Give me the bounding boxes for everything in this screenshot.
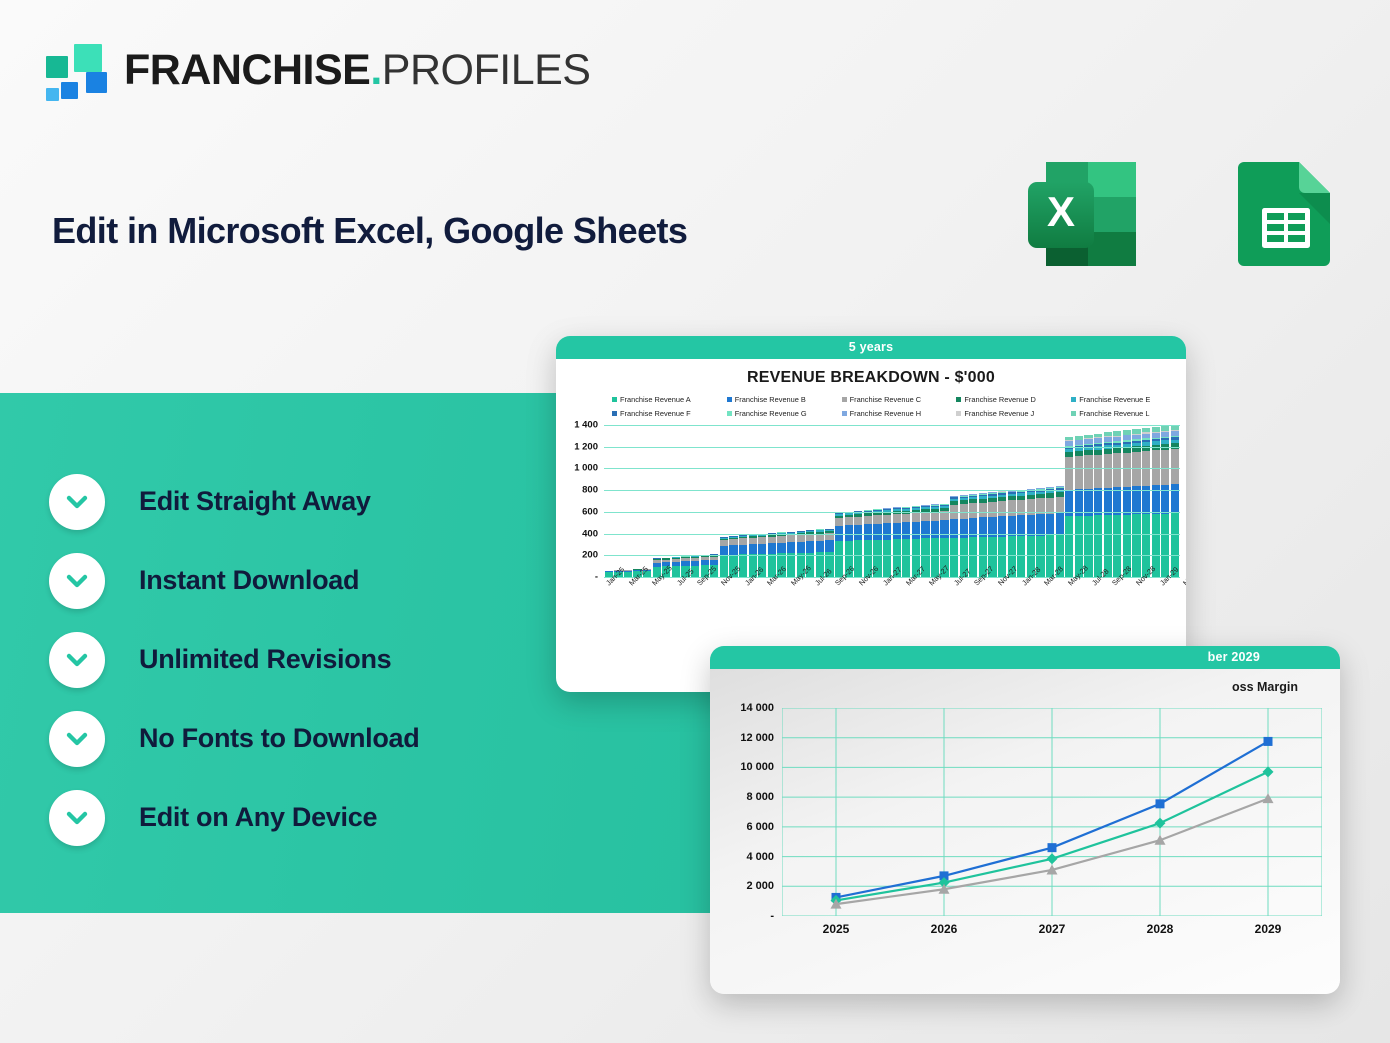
bar-segment [1046, 514, 1054, 535]
logo-dot: . [370, 46, 381, 94]
bar-segment [1094, 455, 1102, 488]
legend-swatch [612, 411, 617, 416]
bar-segment [921, 521, 929, 538]
y-axis-tick: 200 [582, 550, 598, 561]
bar-segment [777, 536, 785, 543]
bar-segment [864, 524, 872, 540]
bar-segment [854, 517, 862, 525]
feature-item[interactable]: No Fonts to Download [49, 699, 569, 778]
y-axis-tick: - [595, 572, 598, 583]
chevron-down-icon [49, 711, 105, 767]
y-axis-tick: 1 000 [574, 463, 598, 474]
y-axis-tick: 1 400 [574, 420, 598, 431]
y-axis-tick: 1 200 [574, 441, 598, 452]
bar-column [1046, 487, 1054, 577]
feature-label: Edit on Any Device [139, 802, 377, 833]
bar-segment [1171, 449, 1179, 484]
chart-subtitle-gross-margin: oss Margin [710, 680, 1340, 694]
y-axis-tick: 600 [582, 506, 598, 517]
bar-chart-x-axis: Jan-25Mar-25May-25Jul-25Sep-25Nov-25Jan-… [604, 579, 1180, 625]
x-axis-tick: 2029 [1214, 922, 1322, 936]
logo-wordmark: FRANCHISE.PROFILES [124, 49, 590, 92]
x-axis-tick: 2025 [782, 922, 890, 936]
bar-segment [979, 503, 987, 518]
bar-segment [998, 501, 1006, 516]
bar-column [931, 504, 939, 577]
gridline [604, 425, 1180, 426]
legend-label: Franchise Revenue E [1079, 395, 1150, 404]
gridline [604, 490, 1180, 491]
legend-swatch [842, 411, 847, 416]
bar-segment [787, 535, 795, 542]
gridline [604, 447, 1180, 448]
legend-label: Franchise Revenue A [620, 395, 691, 404]
revenue-breakdown-card: 5 years REVENUE BREAKDOWN - $'000 Franch… [556, 336, 1186, 692]
y-axis-tick: 800 [582, 485, 598, 496]
y-axis-tick: 6 000 [746, 821, 774, 833]
card-ribbon-5-years: 5 years [556, 336, 1186, 359]
bar-segment [921, 512, 929, 521]
bar-column [835, 512, 843, 577]
bar-segment [883, 523, 891, 540]
legend-item: Franchise Revenue J [956, 409, 1071, 418]
bar-segment [720, 546, 728, 555]
bar-segment [1113, 453, 1121, 487]
y-axis-tick: 2 000 [746, 880, 774, 892]
bar-segment [883, 515, 891, 523]
legend-item: Franchise Revenue L [1071, 409, 1186, 418]
bar-segment [931, 521, 939, 539]
bar-column [902, 507, 910, 577]
legend-swatch [1071, 411, 1076, 416]
feature-item[interactable]: Instant Download [49, 541, 569, 620]
feature-item[interactable]: Edit Straight Away [49, 462, 569, 541]
bar-segment [1017, 500, 1025, 516]
y-axis-tick: 12 000 [740, 732, 774, 744]
bar-segment [768, 543, 776, 553]
feature-label: Edit Straight Away [139, 486, 371, 517]
bar-segment [835, 518, 843, 526]
bar-segment [950, 519, 958, 538]
bar-segment [1104, 454, 1112, 488]
bar-segment [1094, 515, 1102, 577]
legend-swatch [842, 397, 847, 402]
bar-segment [1171, 484, 1179, 513]
bar-segment [816, 534, 824, 541]
bar-segment [960, 519, 968, 538]
legend-item: Franchise Revenue F [612, 409, 727, 418]
bar-segment [777, 543, 785, 554]
bar-segment [845, 517, 853, 525]
bar-segment [912, 522, 920, 539]
y-axis-tick: 8 000 [746, 791, 774, 803]
card-ribbon-period: ber 2029 [710, 646, 1340, 669]
bar-segment [739, 545, 747, 555]
bar-segment [893, 523, 901, 540]
legend-item: Franchise Revenue C [842, 395, 957, 404]
bar-segment [1161, 514, 1169, 578]
bar-column [883, 508, 891, 577]
bar-segment [873, 524, 881, 540]
legend-label: Franchise Revenue B [735, 395, 806, 404]
bar-segment [902, 514, 910, 522]
feature-label: Instant Download [139, 565, 359, 596]
logo-word-primary: FRANCHISE [124, 46, 370, 94]
bar-segment [729, 545, 737, 555]
svg-text:X: X [1047, 188, 1075, 235]
bar-segment [969, 503, 977, 518]
feature-item[interactable]: Unlimited Revisions [49, 620, 569, 699]
logo-word-secondary: PROFILES [382, 46, 591, 94]
legend-label: Franchise Revenue F [620, 409, 691, 418]
legend-swatch [956, 397, 961, 402]
bar-segment [1065, 457, 1073, 490]
legend-swatch [1071, 397, 1076, 402]
bar-segment [1075, 456, 1083, 489]
brand-logo: FRANCHISE.PROFILES [46, 42, 590, 98]
legend-swatch [956, 411, 961, 416]
y-axis-tick: 4 000 [746, 851, 774, 863]
legend-item: Franchise Revenue D [956, 395, 1071, 404]
legend-item: Franchise Revenue G [727, 409, 842, 418]
chevron-down-icon [49, 790, 105, 846]
gridline [604, 468, 1180, 469]
feature-label: No Fonts to Download [139, 723, 419, 754]
bar-segment [1008, 500, 1016, 515]
bar-segment [768, 537, 776, 544]
bar-segment [787, 542, 795, 553]
bar-segment [806, 534, 814, 541]
google-sheets-icon [1224, 152, 1348, 276]
bar-column [1036, 488, 1044, 577]
gridline [604, 555, 1180, 556]
chevron-down-icon [49, 474, 105, 530]
bar-segment [1132, 514, 1140, 577]
bar-segment [1123, 453, 1131, 487]
legend-swatch [612, 397, 617, 402]
x-axis-tick: 2027 [998, 922, 1106, 936]
microsoft-excel-icon: X [1022, 152, 1146, 276]
feature-list: Edit Straight Away Instant Download Unli… [49, 462, 569, 857]
bar-segment [902, 522, 910, 539]
legend-swatch [727, 411, 732, 416]
bar-chart-plot: 1 4001 2001 000800600400200- Jan-25Mar-2… [556, 425, 1186, 601]
line-chart-y-axis: 14 00012 00010 0008 0006 0004 0002 000- [710, 708, 780, 916]
bar-column [854, 511, 862, 577]
bar-segment [1065, 516, 1073, 577]
bar-column [1171, 425, 1179, 577]
bar-column [720, 537, 728, 577]
bar-segment [806, 541, 814, 552]
bar-segment [940, 520, 948, 538]
legend-label: Franchise Revenue L [1079, 409, 1149, 418]
legend-item: Franchise Revenue E [1071, 395, 1186, 404]
legend-item: Franchise Revenue A [612, 395, 727, 404]
bar-segment [797, 535, 805, 542]
bar-segment [1036, 514, 1044, 535]
bar-segment [1084, 455, 1092, 488]
chart-title-revenue-breakdown: REVENUE BREAKDOWN - $'000 [556, 369, 1186, 387]
bar-chart-plot-area [604, 425, 1180, 577]
bar-segment [1161, 485, 1169, 514]
bar-column [1056, 486, 1064, 577]
app-icons-group: X [1022, 152, 1348, 276]
chevron-down-icon [49, 553, 105, 609]
legend-swatch [727, 397, 732, 402]
y-axis-tick: 14 000 [740, 702, 774, 714]
legend-item: Franchise Revenue H [842, 409, 957, 418]
bar-segment [1113, 515, 1121, 577]
y-axis-tick: 10 000 [740, 761, 774, 773]
bar-column [950, 496, 958, 577]
bar-segment [873, 515, 881, 523]
chevron-down-icon [49, 632, 105, 688]
bar-segment [1113, 487, 1121, 515]
y-axis-tick: 400 [582, 528, 598, 539]
bar-segment [1056, 513, 1064, 534]
bar-segment [854, 525, 862, 541]
legend-label: Franchise Revenue G [735, 409, 807, 418]
feature-item[interactable]: Edit on Any Device [49, 778, 569, 857]
chart-legend: Franchise Revenue AFranchise Revenue BFr… [556, 387, 1186, 423]
bar-segment [988, 502, 996, 517]
y-axis-tick: - [770, 910, 774, 922]
bar-segment [797, 542, 805, 553]
logo-mark-icon [46, 42, 108, 98]
legend-item: Franchise Revenue B [727, 395, 842, 404]
gridline [604, 534, 1180, 535]
line-chart-plot: 14 00012 00010 0008 0006 0004 0002 000- … [710, 700, 1340, 958]
bar-segment [749, 544, 757, 554]
bar-segment [931, 512, 939, 521]
page-headline: Edit in Microsoft Excel, Google Sheets [52, 210, 687, 252]
bar-segment [1161, 450, 1169, 485]
bar-column [960, 495, 968, 577]
bar-segment [758, 544, 766, 554]
bar-column [979, 493, 987, 577]
x-axis-tick: 2028 [1106, 922, 1214, 936]
bar-segment [912, 513, 920, 522]
bar-segment [864, 516, 872, 524]
projection-card: ber 2029 oss Margin 14 00012 00010 0008 … [710, 646, 1340, 994]
legend-label: Franchise Revenue D [964, 395, 1035, 404]
bar-column [969, 494, 977, 577]
bar-segment [825, 540, 833, 552]
gridline [604, 512, 1180, 513]
feature-label: Unlimited Revisions [139, 644, 391, 675]
bar-chart-y-axis: 1 4001 2001 000800600400200- [556, 425, 602, 577]
bar-segment [816, 541, 824, 553]
legend-label: Franchise Revenue H [850, 409, 921, 418]
bar-segment [893, 514, 901, 522]
line-chart-x-axis: 20252026202720282029 [782, 922, 1322, 936]
line-chart-plot-area [782, 708, 1322, 916]
x-axis-tick: 2026 [890, 922, 998, 936]
legend-label: Franchise Revenue C [850, 395, 921, 404]
legend-label: Franchise Revenue J [964, 409, 1034, 418]
